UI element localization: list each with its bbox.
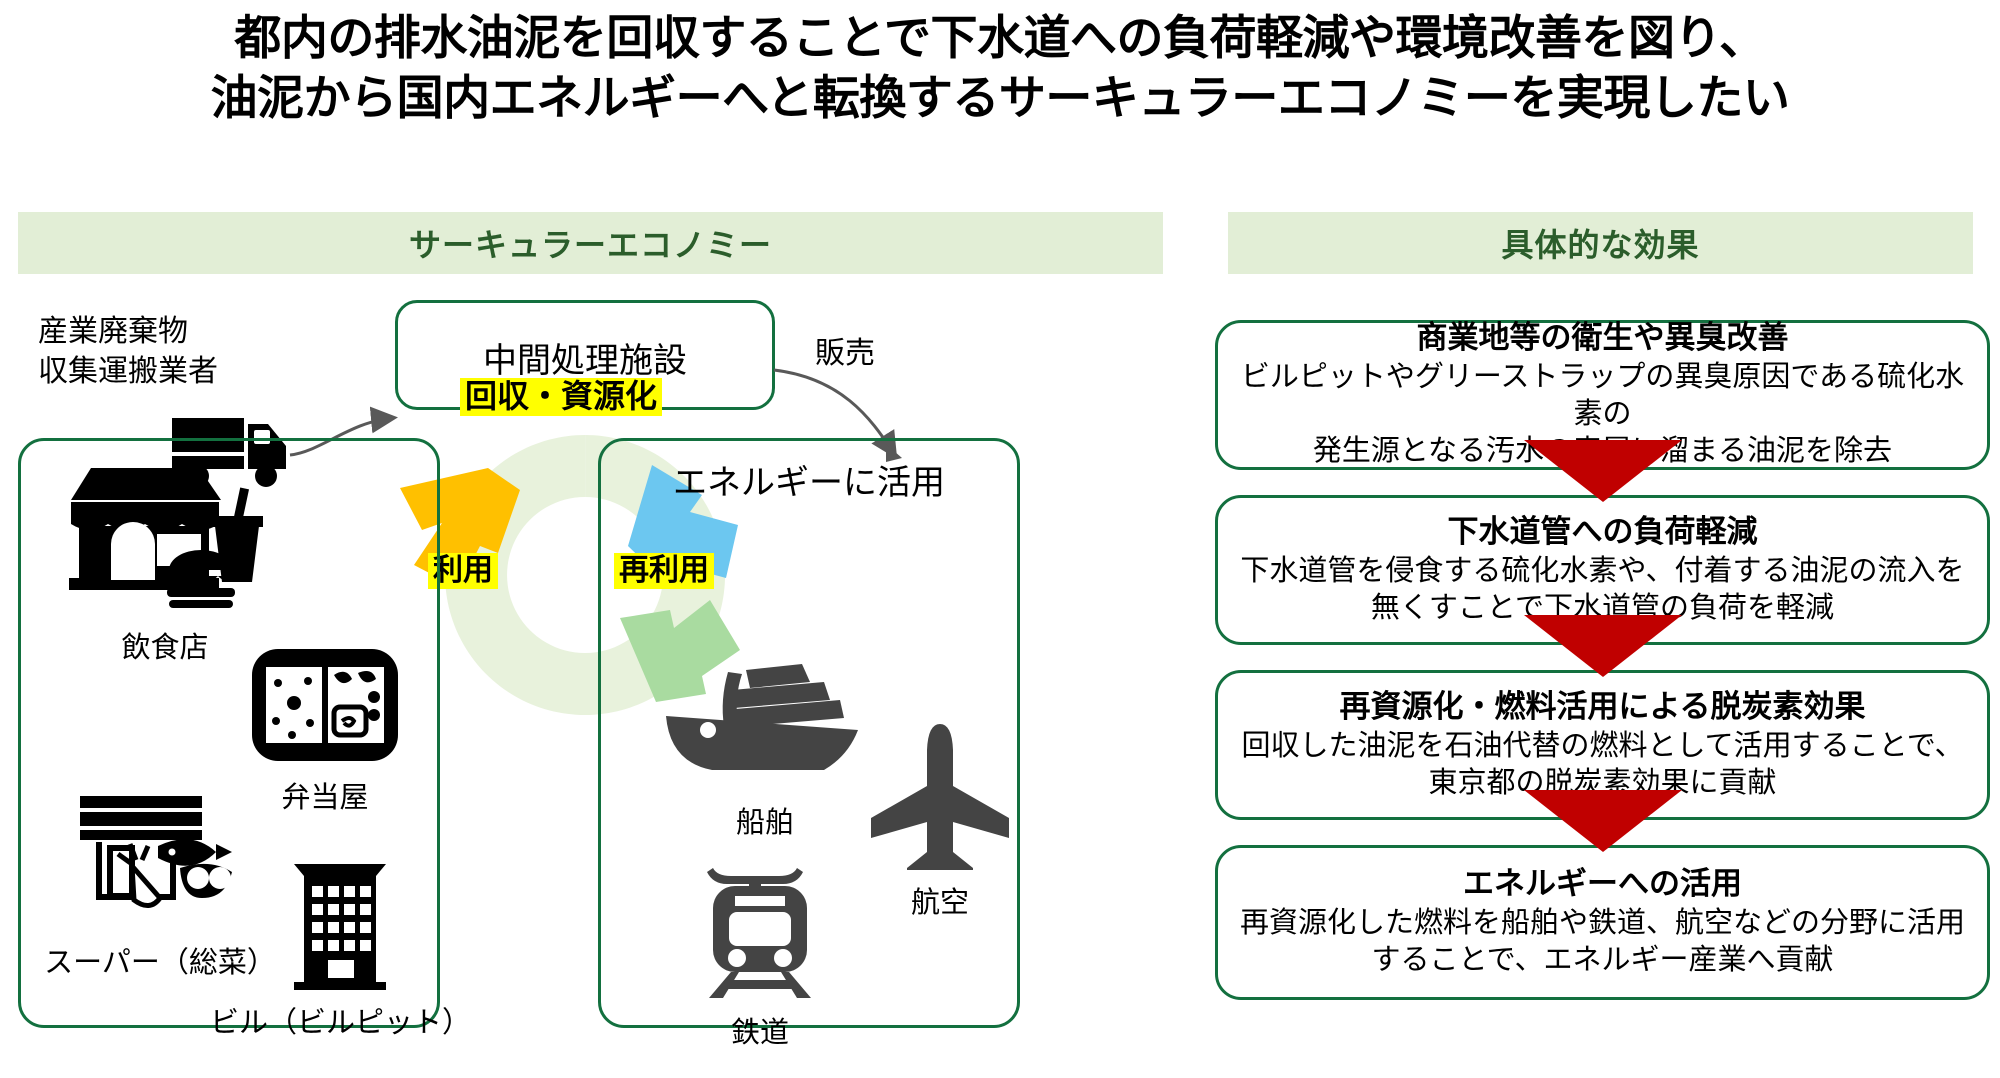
building-icon [290,860,390,990]
section-header-effects: 具体的な効果 [1228,212,1973,274]
waste-hauler-label: 産業廃棄物 収集運搬業者 [38,312,218,391]
train-icon [695,860,825,1000]
effect-card: エネルギーへの活用 再資源化した燃料を船舶や鉄道、航空などの分野に活用 すること… [1215,845,1990,1000]
chevron-down-icon [1524,440,1682,502]
page-title: 都内の排水油泥を回収することで下水道への負荷軽減や環境改善を図り、 油泥から国内… [0,8,2000,128]
ship-icon [660,660,870,790]
effect-title: 下水道管への負荷軽減 [1448,513,1758,551]
chevron-down-icon [1524,790,1682,852]
airplane-icon [865,720,1015,870]
source-building: ビル（ビルピット） [210,860,470,1041]
section-header-right-label: 具体的な効果 [1501,220,1699,266]
circular-economy-diagram: 産業廃棄物 収集運搬業者 中間処理施設 回収・資源化 [0,300,1180,1070]
sales-label: 販売 [815,328,875,372]
energy-use-caption: 航空 [850,879,1030,921]
energy-use-train: 鉄道 [650,860,870,1051]
effect-title: 再資源化・燃料活用による脱炭素効果 [1339,688,1865,726]
energy-use-caption: 鉄道 [650,1009,870,1051]
effect-title: 商業地等の衛生や異臭改善 [1417,319,1789,357]
infographic-root: 都内の排水油泥を回収することで下水道への負荷軽減や環境改善を図り、 油泥から国内… [0,0,2000,1078]
energy-use-plane: 航空 [850,720,1030,921]
section-header-circular-economy: サーキュラーエコノミー [18,212,1163,274]
effect-body: 再資源化した燃料を船舶や鉄道、航空などの分野に活用 することで、エネルギー産業へ… [1240,905,1965,979]
effect-title: エネルギーへの活用 [1463,865,1742,903]
section-header-left-label: サーキュラーエコノミー [409,220,772,266]
energy-use-title: エネルギーに活用 [598,455,1020,504]
source-restaurant: 飲食店 [35,460,295,666]
restaurant-icon [65,460,265,615]
bento-box-icon [250,645,400,765]
effects-chain: 商業地等の衛生や異臭改善 ビルピットやグリーストラップの異臭原因である硫化水素の… [1215,300,1990,1070]
source-caption: ビル（ビルピット） [210,999,470,1041]
chevron-down-icon [1524,615,1682,677]
